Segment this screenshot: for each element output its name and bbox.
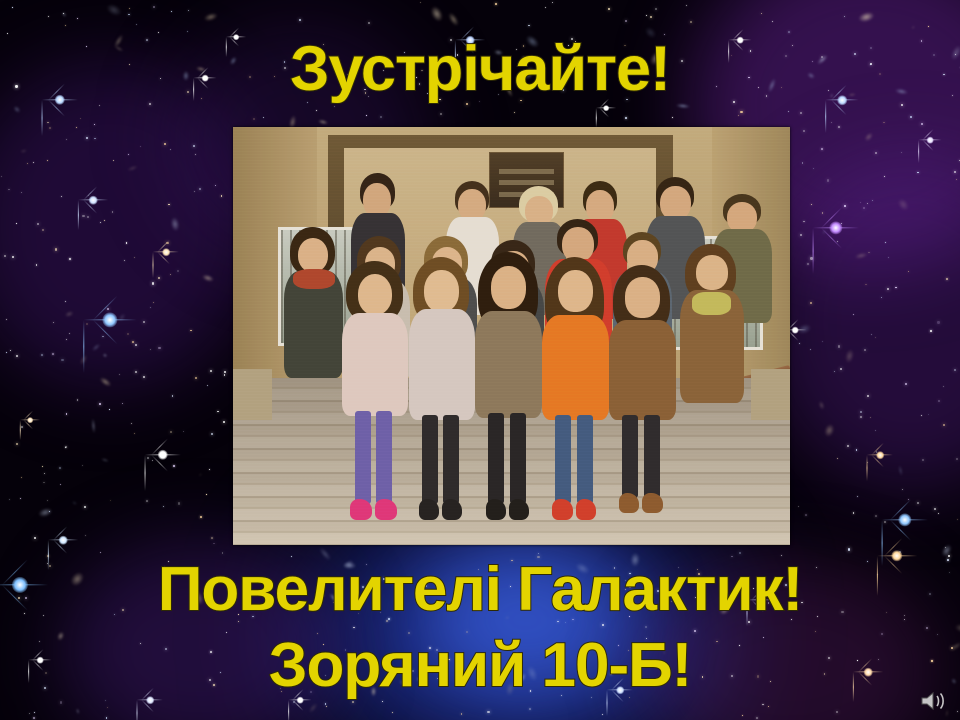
slide-subtitle-line-2: Зоряний 10-Б! xyxy=(0,630,960,701)
class-group-photo xyxy=(233,127,790,545)
photo-grain xyxy=(233,127,790,545)
slide-title: Зустрічайте! xyxy=(0,33,960,105)
speaker-icon[interactable] xyxy=(918,688,952,714)
slide-subtitle-line-1: Повелителі Галактик! xyxy=(0,554,960,625)
presentation-slide: Зустрічайте! Повелителі Галактик! Зоряни… xyxy=(0,0,960,720)
